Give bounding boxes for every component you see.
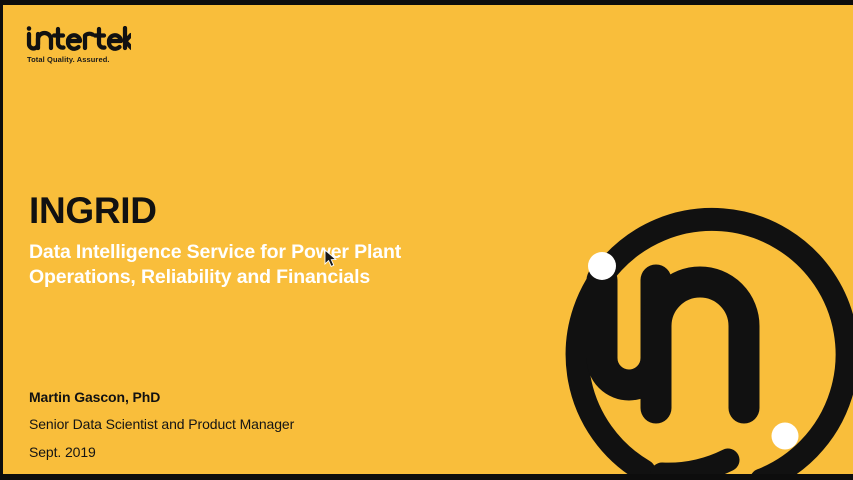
intertek-wordmark-icon [25, 26, 131, 52]
brandmark-ring-stub [662, 460, 728, 474]
brandmark-dot-upper [588, 252, 616, 280]
page-subtitle: Data Intelligence Service for Power Plan… [29, 240, 459, 290]
slide-border-top [0, 0, 853, 5]
intertek-tagline: Total Quality. Assured. [27, 55, 131, 64]
author-role: Senior Data Scientist and Product Manage… [29, 416, 294, 432]
slide-border-bottom [0, 474, 853, 480]
brandmark-letter-n [656, 282, 744, 408]
page-title: INGRID [29, 192, 459, 229]
slide-border-left [0, 0, 3, 480]
page-subtitle-line-1: Data Intelligence Service for Power Plan… [29, 240, 459, 265]
title-block: INGRID Data Intelligence Service for Pow… [29, 192, 459, 290]
presentation-slide: Total Quality. Assured. INGRID Data Inte… [0, 0, 853, 480]
brandmark-letter-i [602, 280, 656, 385]
brandmark-dot-lower [772, 423, 799, 450]
intertek-logo: Total Quality. Assured. [25, 26, 131, 64]
author-block: Martin Gascon, PhD Senior Data Scientist… [29, 389, 294, 460]
presentation-date: Sept. 2019 [29, 444, 294, 460]
brandmark-ring-arc [553, 194, 853, 480]
intertek-in-circle-mark [466, 168, 853, 480]
author-name: Martin Gascon, PhD [29, 389, 294, 405]
page-subtitle-line-2: Operations, Reliability and Financials [29, 265, 459, 290]
